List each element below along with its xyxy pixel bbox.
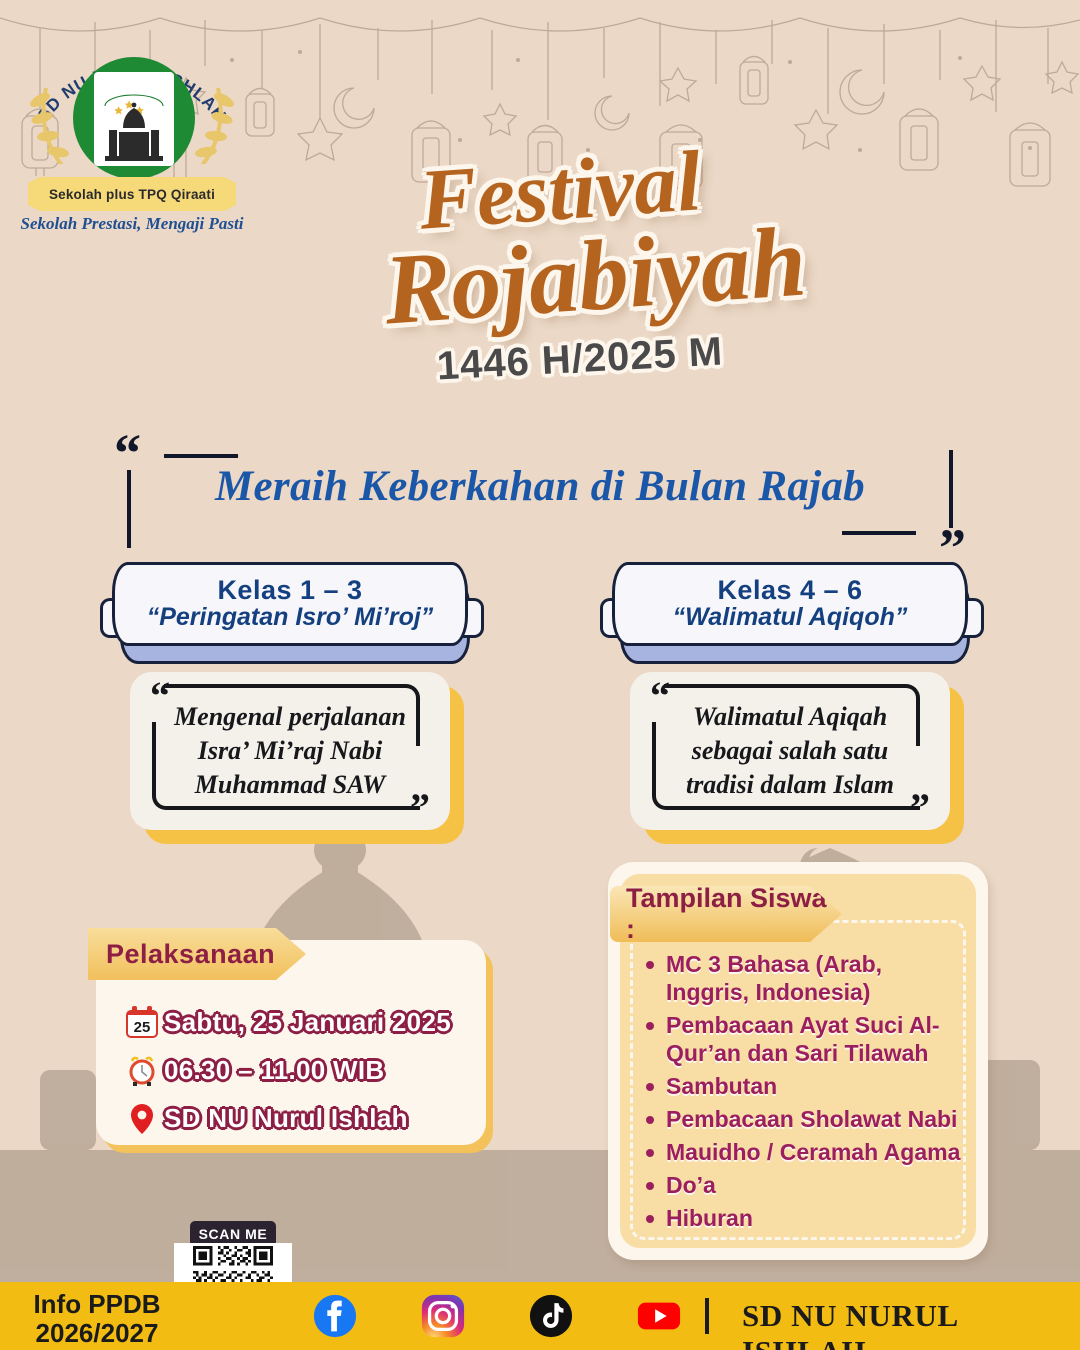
school-motto: Sekolah Prestasi, Mengaji Pasti <box>18 214 246 234</box>
ppdb-info: Info PPDB 2026/2027 <box>22 1290 172 1348</box>
tagline-text: Meraih Keberkahan di Bulan Rajab <box>100 462 980 511</box>
list-item: Do’a <box>666 1171 962 1199</box>
banner-kelas-label: Kelas 1 – 3 <box>217 576 362 604</box>
logo-mosque-emblem <box>94 72 174 166</box>
tampilan-siswa-panel: Tampilan Siswa : MC 3 Bahasa (Arab, Ingg… <box>608 862 988 1260</box>
footer-divider <box>705 1298 709 1334</box>
pelaksanaan-row-date: 25 Sabtu, 25 Januari 2025 <box>120 998 470 1046</box>
tagline-bar-right <box>949 450 953 528</box>
footer-bar: Info PPDB 2026/2027 <box>0 1282 1080 1350</box>
ppdb-info-line-2: 2026/2027 <box>22 1319 172 1348</box>
tagline-block: “ Meraih Keberkahan di Bulan Rajab ” <box>100 432 980 557</box>
quote-card-kelas-4-6: “ Walimatul Aqiqah sebagai salah satu tr… <box>630 672 950 830</box>
instagram-icon[interactable] <box>420 1293 466 1339</box>
location-pin-icon <box>120 1098 164 1138</box>
ppdb-info-line-1: Info PPDB <box>22 1290 172 1319</box>
list-item: Hiburan <box>666 1204 962 1232</box>
poster-title: Festival Rojabiyah 1446 H/2025 M <box>300 150 860 430</box>
program-banner-kelas-1-3: Kelas 1 – 3 “Peringatan Isro’ Mi’roj” <box>112 562 472 662</box>
pelaksanaan-date-text: Sabtu, 25 Januari 2025 <box>164 1007 451 1038</box>
footer-school-name: SD NU NURUL ISHLAH <box>742 1298 1080 1350</box>
calendar-day-number: 25 <box>134 1019 151 1036</box>
pelaksanaan-card: Pelaksanaan 25 Sabtu, 25 Januari 2025 <box>96 940 486 1145</box>
banner-face: Kelas 4 – 6 “Walimatul Aqiqoh” <box>612 562 968 646</box>
tiktok-icon[interactable] <box>528 1293 574 1339</box>
youtube-icon[interactable] <box>636 1293 682 1339</box>
pelaksanaan-row-location: SD NU Nurul Ishlah <box>120 1094 470 1142</box>
banner-face: Kelas 1 – 3 “Peringatan Isro’ Mi’roj” <box>112 562 468 646</box>
pelaksanaan-location-text: SD NU Nurul Ishlah <box>164 1103 408 1134</box>
tampilan-heading-tag: Tampilan Siswa : <box>610 886 842 942</box>
quote-card-face: “ Walimatul Aqiqah sebagai salah satu tr… <box>630 672 950 830</box>
tagline-dash-left <box>164 454 238 458</box>
social-icons <box>312 1293 682 1339</box>
pelaksanaan-heading-tag: Pelaksanaan <box>88 928 306 980</box>
quote-text: Mengenal perjalanan Isra’ Mi’raj Nabi Mu… <box>130 700 450 803</box>
quote-card-kelas-1-3: “ Mengenal perjalanan Isra’ Mi’raj Nabi … <box>130 672 450 830</box>
list-item: Pembacaan Sholawat Nabi <box>666 1105 962 1133</box>
quote-text: Walimatul Aqiqah sebagai salah satu trad… <box>630 700 950 803</box>
program-banner-kelas-4-6: Kelas 4 – 6 “Walimatul Aqiqoh” <box>612 562 972 662</box>
calendar-icon: 25 <box>120 1002 164 1042</box>
logo-ribbon-label: Sekolah plus TPQ Qiraati <box>49 187 215 202</box>
banner-kelas-label: Kelas 4 – 6 <box>717 576 862 604</box>
quote-card-face: “ Mengenal perjalanan Isra’ Mi’raj Nabi … <box>130 672 450 830</box>
logo-mosque-icon <box>99 88 169 166</box>
tampilan-heading: Tampilan Siswa : <box>626 883 842 945</box>
list-item: Mauidho / Ceramah Agama <box>666 1138 962 1166</box>
list-item: Pembacaan Ayat Suci Al-Qur’an dan Sari T… <box>666 1011 962 1067</box>
facebook-icon[interactable] <box>312 1293 358 1339</box>
clock-icon <box>120 1050 164 1090</box>
scan-me-label: SCAN ME <box>199 1226 268 1242</box>
pelaksanaan-time-text: 06.30 – 11.00 WIB <box>164 1055 384 1086</box>
banner-theme-label: “Peringatan Isro’ Mi’roj” <box>147 604 434 632</box>
tagline-dash-right <box>842 531 916 535</box>
pelaksanaan-heading: Pelaksanaan <box>106 939 275 970</box>
poster-root: SD NU NURUL ISHLAH <box>0 0 1080 1350</box>
pelaksanaan-row-time: 06.30 – 11.00 WIB <box>120 1046 470 1094</box>
pelaksanaan-rows: 25 Sabtu, 25 Januari 2025 06.30 <box>120 998 470 1142</box>
banner-theme-label: “Walimatul Aqiqoh” <box>673 604 908 632</box>
school-logo: SD NU NURUL ISHLAH <box>18 14 246 244</box>
list-item: MC 3 Bahasa (Arab, Inggris, Indonesia) <box>666 950 962 1006</box>
tampilan-siswa-list: MC 3 Bahasa (Arab, Inggris, Indonesia) P… <box>644 950 962 1237</box>
logo-ribbon: Sekolah plus TPQ Qiraati <box>28 177 236 211</box>
list-item: Sambutan <box>666 1072 962 1100</box>
